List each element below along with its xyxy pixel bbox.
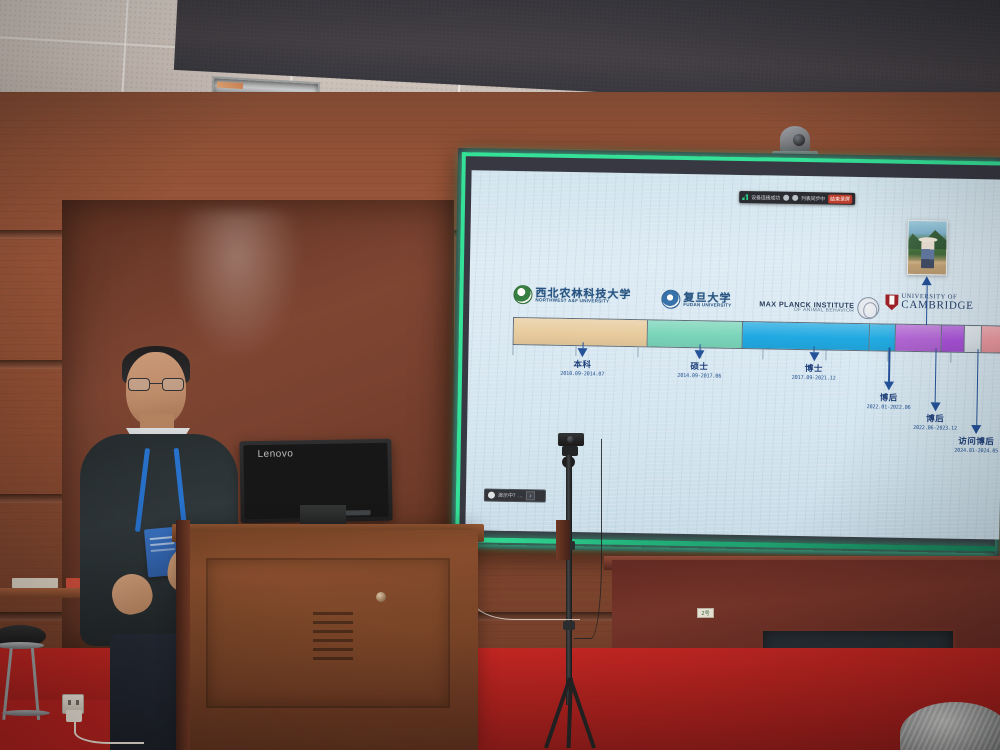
marker-label: 访问博后: [958, 435, 994, 448]
marker-arrow-icon: [809, 352, 819, 361]
max-planck-minerva-icon: [857, 297, 879, 319]
logo-northwest-afu: 西北农林科技大学 NORTHWEST A&F UNIVERSITY: [513, 285, 631, 306]
photo-person: [921, 240, 934, 268]
marker-label: 硕士: [690, 360, 708, 372]
cambridge-shield-icon: [885, 294, 898, 310]
marker-period: 2024.01-2024.05: [954, 447, 998, 454]
ptz-camera-lens: [793, 134, 805, 146]
marker-stem: [976, 349, 979, 425]
podium-knob[interactable]: [376, 592, 386, 602]
marker-stem: [935, 348, 937, 402]
logo-mpi-line2: OF ANIMAL BEHAVIOR: [794, 308, 855, 314]
logo-nwafu-en: NORTHWEST A&F UNIVERSITY: [535, 298, 631, 304]
floor-cable: [470, 560, 580, 620]
photo-person-hat: [918, 237, 937, 242]
podium-left-edge: [176, 520, 190, 750]
marker-period: 2017.09-2021.12: [792, 374, 836, 381]
marker-label: 本科: [573, 358, 591, 370]
timeline-marker: 访问博后2024.01-2024.05: [946, 349, 1000, 455]
marker-label: 博士: [805, 362, 823, 374]
power-cable: [74, 720, 144, 744]
marker-period: 2014.09-2017.06: [677, 372, 721, 379]
fudan-seal-icon: [661, 290, 680, 309]
timeline-marker: 硕士2014.09-2017.06: [669, 344, 730, 380]
record-dot-icon[interactable]: [488, 492, 495, 499]
screen-float-control-left[interactable]: 演示中？… ♪: [484, 489, 546, 503]
logo-cambridge: UNIVERSITY OF CAMBRIDGE: [885, 293, 974, 312]
logo-cambridge-line2: CAMBRIDGE: [901, 300, 973, 312]
speaker-icon[interactable]: ♪: [526, 491, 535, 500]
float-control-label: 演示中？…: [498, 492, 523, 499]
marker-label: 博后: [926, 412, 944, 424]
ptz-camera-head: [780, 126, 810, 152]
marker-arrow-icon: [971, 425, 981, 434]
projection-screen-frame: 设备连接成功 列表同步中 结束录屏 西北农林科技大学 NORTHWEST A&F…: [451, 148, 1000, 558]
nwafu-seal-icon: [513, 285, 532, 304]
shelf-item-papers: [12, 578, 58, 588]
photo-pointer-arrow-icon: [922, 276, 932, 285]
marker-arrow-icon: [930, 402, 940, 411]
logo-fudan-en: FUDAN UNIVERSITY: [683, 303, 731, 308]
institution-logo-row: 西北农林科技大学 NORTHWEST A&F UNIVERSITY 复旦大学 F…: [513, 281, 984, 323]
wall-vertical-trim: [556, 520, 570, 560]
marker-arrow-icon: [884, 381, 894, 390]
stool-foot-ring: [2, 710, 50, 716]
monitor-brand-label: Lenovo: [257, 448, 293, 460]
marker-arrow-icon: [578, 348, 588, 357]
marker-label: 博后: [880, 391, 898, 403]
logo-fudan: 复旦大学 FUDAN UNIVERSITY: [661, 290, 731, 310]
marker-period: 2022.01-2022.06: [867, 404, 911, 411]
marker-stem: [888, 348, 890, 382]
room-number-label: 2号: [701, 610, 709, 617]
logo-max-planck: MAX PLANCK INSTITUTE OF ANIMAL BEHAVIOR: [759, 295, 879, 319]
presenter-glasses-icon: [128, 378, 184, 391]
conference-room-scene: 设备连接成功 列表同步中 结束录屏 西北农林科技大学 NORTHWEST A&F…: [0, 0, 1000, 750]
timeline-marker: 博士2017.09-2021.12: [784, 346, 845, 382]
marker-arrow-icon: [695, 350, 705, 359]
wall-light-reflection: [172, 210, 302, 360]
monitor-control-bar[interactable]: [345, 510, 371, 515]
room-number-sign: 2号: [697, 608, 714, 618]
marker-period: 2010.09-2014.07: [560, 370, 604, 377]
podium-vent-slots: [313, 612, 353, 664]
timeline-marker: 本科2010.09-2014.07: [552, 342, 613, 378]
field-photo-thumbnail: [907, 220, 948, 276]
